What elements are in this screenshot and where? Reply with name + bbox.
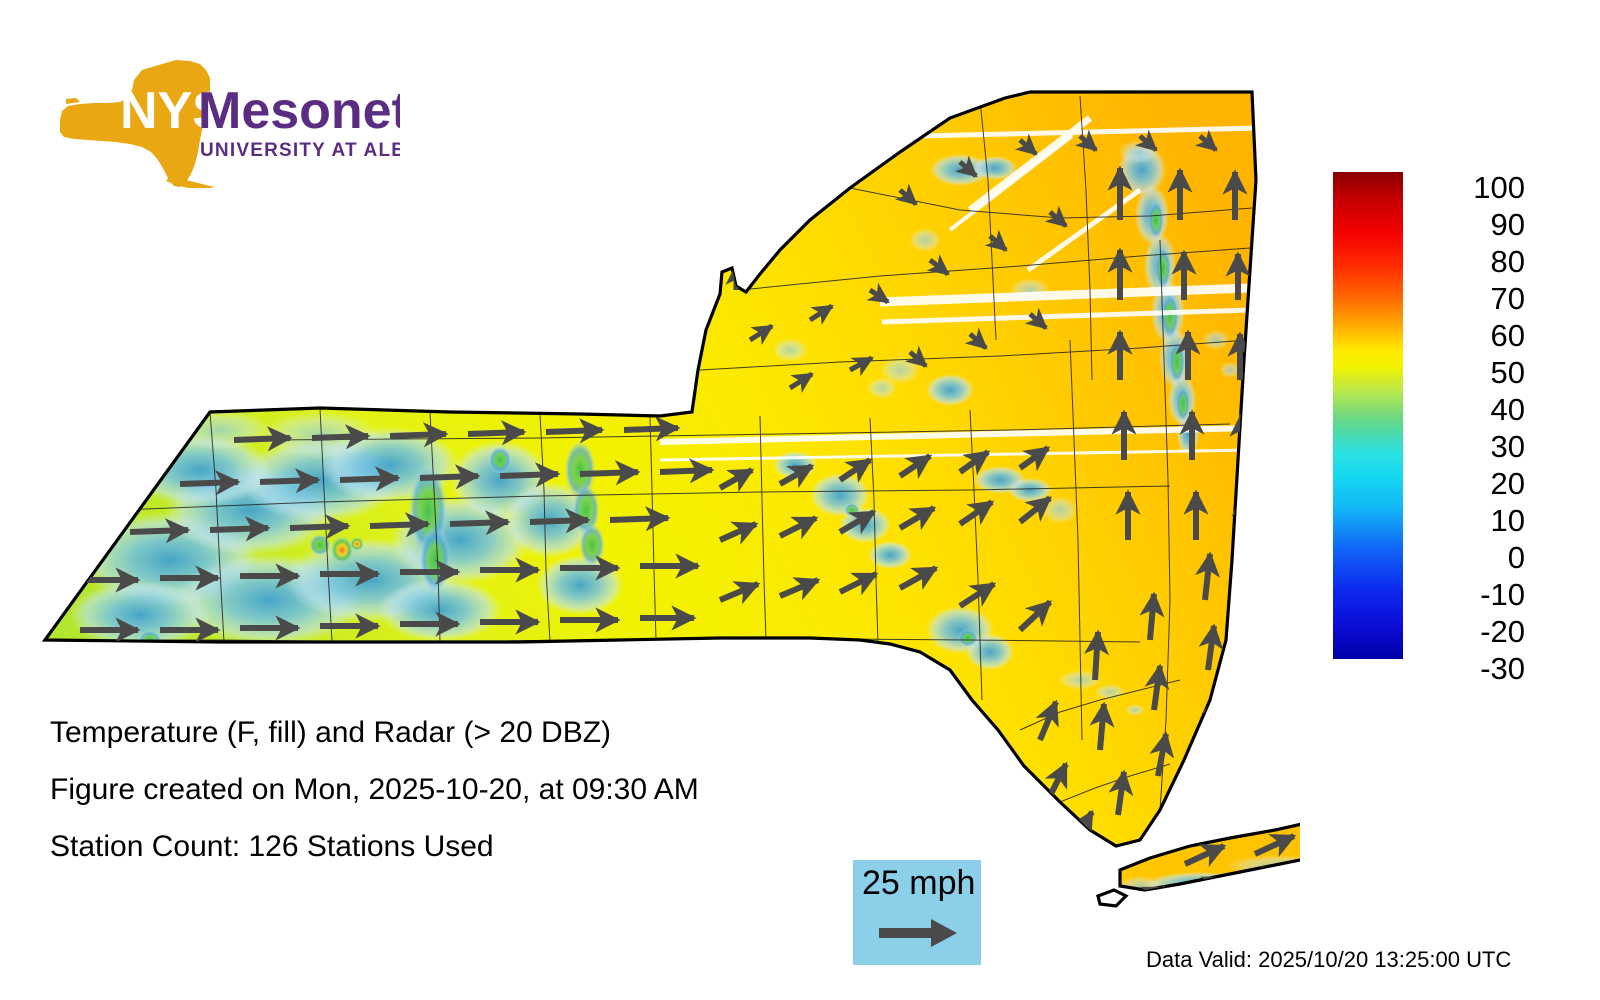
colorbar-tick: 20 [1405,468,1525,499]
colorbar-tick: 100 [1405,172,1525,203]
temperature-colorbar: 100 90 80 70 60 50 40 30 20 10 0 -10 -20… [1333,172,1583,672]
colorbar-tick: 10 [1405,505,1525,536]
caption-created-line: Figure created on Mon, 2025-10-20, at 09… [50,775,830,805]
caption-title-line: Temperature (F, fill) and Radar (> 20 DB… [50,718,830,748]
colorbar-tick: 40 [1405,394,1525,425]
colorbar-tick: 70 [1405,283,1525,314]
wind-speed-legend: 25 mph [853,860,981,965]
colorbar-tick: 0 [1405,542,1525,573]
colorbar-tick: 90 [1405,209,1525,240]
colorbar-gradient [1333,172,1403,659]
wind-arrow-icon [879,916,959,950]
colorbar-tick: -10 [1405,579,1525,610]
figure-caption: Temperature (F, fill) and Radar (> 20 DB… [50,718,830,889]
colorbar-tick: 50 [1405,357,1525,388]
colorbar-tick: -30 [1405,653,1525,684]
data-valid-timestamp: Data Valid: 2025/10/20 13:25:00 UTC [1146,948,1511,972]
colorbar-tick: 30 [1405,431,1525,462]
colorbar-tick: -20 [1405,616,1525,647]
colorbar-tick: 60 [1405,320,1525,351]
colorbar-tick: 80 [1405,246,1525,277]
colorbar-tick-labels: 100 90 80 70 60 50 40 30 20 10 0 -10 -20… [1405,158,1525,673]
caption-station-line: Station Count: 126 Stations Used [50,832,830,862]
wind-legend-label: 25 mph [862,864,975,902]
